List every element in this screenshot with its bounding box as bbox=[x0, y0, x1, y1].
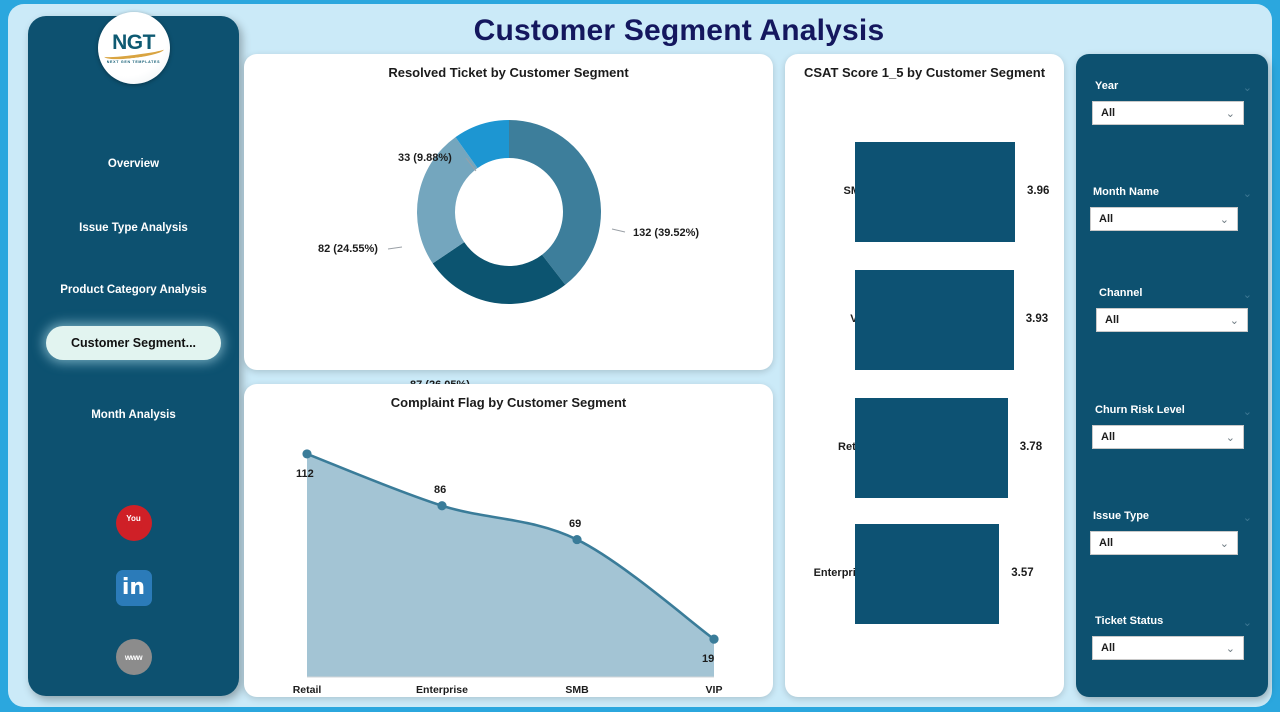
filter-selected-value: All bbox=[1099, 537, 1220, 549]
donut-chart[interactable] bbox=[409, 112, 609, 312]
filter-label: Year bbox=[1095, 80, 1118, 92]
csat-bar[interactable] bbox=[855, 270, 1014, 370]
brand-logo: NGT NEXT GEN TEMPLATES bbox=[98, 12, 170, 84]
filter-label: Channel bbox=[1099, 287, 1142, 299]
chevron-down-icon: ⌄ bbox=[1226, 642, 1235, 655]
filter-select[interactable]: All⌄ bbox=[1096, 308, 1248, 332]
chevron-down-icon: ⌄ bbox=[1220, 537, 1229, 550]
youtube-icon[interactable]: You Tube bbox=[116, 505, 152, 541]
area-point-label-3: 19 bbox=[702, 653, 714, 665]
csat-value-label: 3.78 bbox=[1020, 441, 1042, 453]
donut-slice[interactable] bbox=[509, 120, 601, 285]
chevron-down-icon: ⌄ bbox=[1230, 314, 1239, 327]
csat-bar[interactable] bbox=[855, 524, 999, 624]
sidebar-item-month-analysis[interactable]: Month Analysis bbox=[28, 409, 239, 421]
resolved-ticket-card: Resolved Ticket by Customer Segment 132 … bbox=[244, 54, 773, 370]
youtube-bottom-text: Tube bbox=[124, 523, 143, 532]
filter-label: Ticket Status bbox=[1095, 615, 1163, 627]
chevron-down-icon: ⌄ bbox=[1226, 107, 1235, 120]
filter-label: Issue Type bbox=[1093, 510, 1149, 522]
csat-value-label: 3.57 bbox=[1011, 567, 1033, 579]
linkedin-icon[interactable]: in bbox=[116, 570, 152, 606]
csat-bar[interactable] bbox=[855, 398, 1008, 498]
filter-select[interactable]: All⌄ bbox=[1092, 101, 1244, 125]
area-chart[interactable]: 112 86 69 19 Retail Enterprise SMB VIP bbox=[244, 424, 773, 697]
website-icon[interactable]: www bbox=[116, 639, 152, 675]
chevron-down-icon[interactable]: ⌄ bbox=[1243, 81, 1252, 94]
donut-label-0: 132 (39.52%) bbox=[633, 227, 699, 239]
filter-selected-value: All bbox=[1101, 642, 1226, 654]
chevron-down-icon[interactable]: ⌄ bbox=[1243, 288, 1252, 301]
csat-bar[interactable] bbox=[855, 142, 1015, 242]
sidebar-item-overview[interactable]: Overview bbox=[28, 158, 239, 170]
area-point-label-0: 112 bbox=[296, 468, 314, 480]
area-data-point[interactable] bbox=[572, 535, 581, 544]
csat-value-label: 3.93 bbox=[1026, 313, 1048, 325]
logo-subtext: NEXT GEN TEMPLATES bbox=[107, 60, 160, 64]
area-axis-label-3: VIP bbox=[664, 684, 764, 696]
area-axis-label-2: SMB bbox=[527, 684, 627, 696]
area-axis-label-1: Enterprise bbox=[392, 684, 492, 696]
csat-value-label: 3.96 bbox=[1027, 185, 1049, 197]
complaint-flag-title: Complaint Flag by Customer Segment bbox=[244, 395, 773, 410]
filter-selected-value: All bbox=[1105, 314, 1230, 326]
website-glyph: www bbox=[125, 653, 142, 662]
chevron-down-icon[interactable]: ⌄ bbox=[1243, 616, 1252, 629]
sidebar-item-issue-type-analysis[interactable]: Issue Type Analysis bbox=[28, 222, 239, 234]
area-point-label-2: 69 bbox=[569, 518, 581, 530]
sidebar: NGT NEXT GEN TEMPLATES Overview Issue Ty… bbox=[28, 16, 239, 696]
chevron-down-icon[interactable]: ⌄ bbox=[1243, 405, 1252, 418]
donut-slice[interactable] bbox=[432, 242, 565, 304]
filter-selected-value: All bbox=[1101, 107, 1226, 119]
filter-select[interactable]: All⌄ bbox=[1092, 425, 1244, 449]
page-title: Customer Segment Analysis bbox=[244, 10, 1114, 52]
chevron-down-icon[interactable]: ⌄ bbox=[1243, 511, 1252, 524]
linkedin-glyph: in bbox=[122, 577, 145, 599]
area-svg bbox=[244, 424, 773, 697]
filter-panel: Year⌄All⌄Month Name⌄All⌄Channel⌄All⌄Chur… bbox=[1076, 54, 1268, 697]
csat-score-title: CSAT Score 1_5 by Customer Segment bbox=[785, 65, 1064, 80]
chevron-down-icon[interactable]: ⌄ bbox=[1243, 187, 1252, 200]
area-data-point[interactable] bbox=[302, 449, 311, 458]
filter-selected-value: All bbox=[1099, 213, 1220, 225]
filter-selected-value: All bbox=[1101, 431, 1226, 443]
csat-score-card: CSAT Score 1_5 by Customer Segment SMB3.… bbox=[785, 54, 1064, 697]
donut-svg bbox=[409, 112, 609, 312]
filter-label: Month Name bbox=[1093, 186, 1159, 198]
donut-label-3: 33 (9.88%) bbox=[398, 152, 452, 164]
donut-label-2: 82 (24.55%) bbox=[318, 243, 378, 255]
area-axis-label-0: Retail bbox=[257, 684, 357, 696]
filter-select[interactable]: All⌄ bbox=[1090, 531, 1238, 555]
chevron-down-icon: ⌄ bbox=[1220, 213, 1229, 226]
filter-select[interactable]: All⌄ bbox=[1090, 207, 1238, 231]
chevron-down-icon: ⌄ bbox=[1226, 431, 1235, 444]
area-data-point[interactable] bbox=[709, 635, 718, 644]
filter-label: Churn Risk Level bbox=[1095, 404, 1185, 416]
area-data-point[interactable] bbox=[437, 501, 446, 510]
filter-select[interactable]: All⌄ bbox=[1092, 636, 1244, 660]
sidebar-item-customer-segment-analysis[interactable]: Customer Segment... bbox=[46, 326, 221, 360]
sidebar-item-product-category-analysis[interactable]: Product Category Analysis bbox=[28, 284, 239, 296]
complaint-flag-card: Complaint Flag by Customer Segment 112 8… bbox=[244, 384, 773, 697]
area-point-label-1: 86 bbox=[434, 484, 446, 496]
resolved-ticket-title: Resolved Ticket by Customer Segment bbox=[244, 65, 773, 80]
dashboard-canvas: NGT NEXT GEN TEMPLATES Overview Issue Ty… bbox=[8, 4, 1272, 707]
